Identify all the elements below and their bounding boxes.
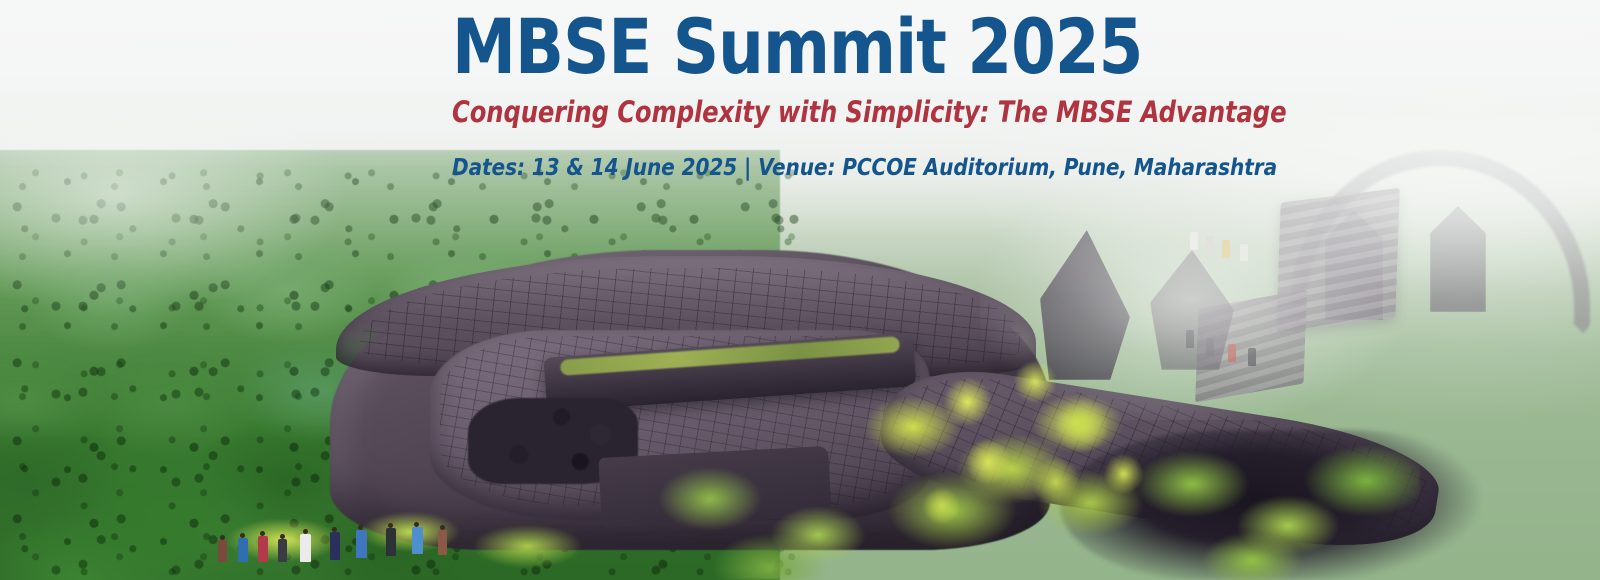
person	[1206, 338, 1214, 356]
person	[1248, 348, 1256, 366]
moss-overgrowth-b	[1120, 420, 1420, 580]
person-head	[332, 527, 337, 532]
person	[1222, 240, 1230, 258]
person-head	[303, 529, 308, 534]
person-head	[440, 525, 445, 530]
person-head	[414, 522, 419, 527]
person-head	[388, 523, 393, 528]
banner-subtitle: Conquering Complexity with Simplicity: T…	[452, 95, 1103, 129]
person-head	[220, 535, 225, 540]
banner-text-block: MBSE Summit 2025 Conquering Complexity w…	[452, 0, 1152, 181]
person	[300, 534, 311, 562]
person	[278, 539, 287, 562]
person	[386, 528, 396, 556]
person	[258, 536, 268, 562]
person	[1186, 330, 1194, 348]
person	[438, 530, 447, 555]
person	[1240, 244, 1248, 261]
yellow-green-bush	[900, 350, 1160, 550]
person-head	[260, 531, 265, 536]
person	[412, 527, 423, 554]
person-head	[280, 534, 285, 539]
person-head	[240, 533, 245, 538]
person	[1228, 344, 1236, 362]
moss-overgrowth-d	[620, 430, 920, 580]
person	[238, 538, 248, 562]
banner-date-venue: Dates: 13 & 14 June 2025 | Venue: PCCOE …	[452, 153, 1117, 181]
person	[218, 540, 227, 562]
conference-banner: MBSE Summit 2025 Conquering Complexity w…	[0, 0, 1600, 580]
person	[1206, 236, 1214, 253]
person	[1190, 232, 1198, 250]
person	[330, 532, 340, 560]
person-head	[358, 525, 363, 530]
page-title: MBSE Summit 2025	[452, 0, 1110, 88]
wedge-wall-b	[1150, 250, 1234, 370]
person	[356, 530, 367, 558]
